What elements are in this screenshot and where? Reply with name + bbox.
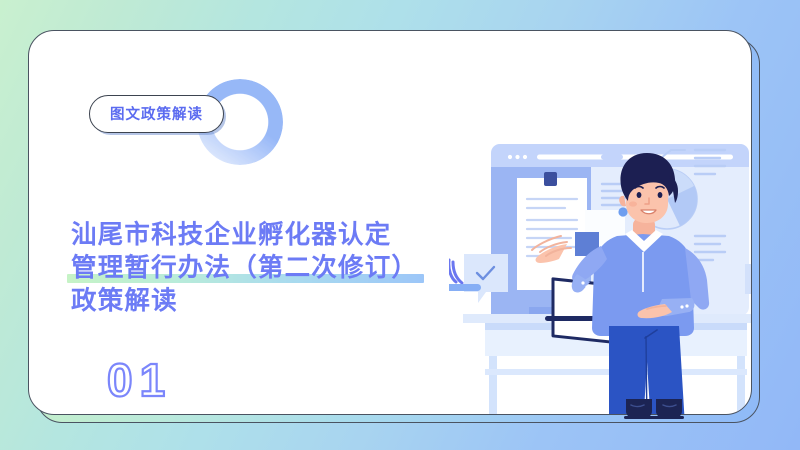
title-line-3: 政策解读 (71, 285, 418, 318)
presenter-illustration (449, 126, 752, 415)
title-line-1: 汕尾市科技企业孵化器认定 (71, 219, 418, 252)
title-line-1-text: 汕尾市科技企业孵化器认定 (71, 221, 391, 249)
badge-label: 图文政策解读 (110, 107, 203, 123)
slide-canvas: 图文政策解读 汕尾市科技企业孵化器认定 管理暂行办法（第二次修订） 政策解读 0… (0, 0, 800, 450)
presenter-feet-graphic (624, 396, 684, 422)
main-card: 图文政策解读 汕尾市科技企业孵化器认定 管理暂行办法（第二次修订） 政策解读 0… (28, 30, 752, 415)
section-number: 01 (107, 357, 172, 403)
page-title: 汕尾市科技企业孵化器认定 管理暂行办法（第二次修订） 政策解读 (71, 219, 418, 318)
title-line-2-text: 管理暂行办法（第二次修订） (71, 254, 418, 282)
title-line-3-text: 政策解读 (71, 287, 178, 315)
title-line-2: 管理暂行办法（第二次修订） (71, 252, 418, 285)
badge-pill[interactable]: 图文政策解读 (89, 95, 224, 133)
